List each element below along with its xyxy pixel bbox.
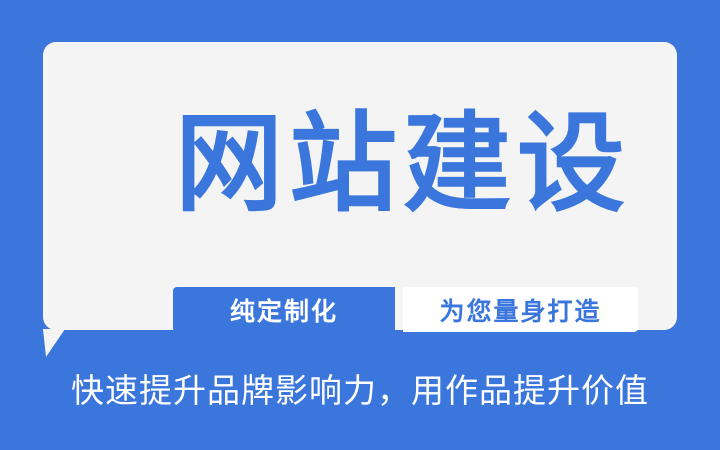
tag-tailor-made[interactable]: 为您量身打造	[403, 287, 638, 332]
speech-bubble-card: 网站建设 纯定制化 为您量身打造	[43, 42, 677, 330]
tag-row: 纯定制化 为您量身打造	[173, 287, 638, 332]
tag-divider	[395, 287, 403, 332]
promo-banner: 网站建设 纯定制化 为您量身打造 快速提升品牌影响力，用作品提升价值	[0, 0, 720, 450]
tag-custom-development[interactable]: 纯定制化	[173, 287, 395, 332]
page-title: 网站建设	[43, 110, 720, 218]
speech-bubble-tail-icon	[43, 329, 65, 357]
tagline-text: 快速提升品牌影响力，用作品提升价值	[0, 371, 720, 411]
